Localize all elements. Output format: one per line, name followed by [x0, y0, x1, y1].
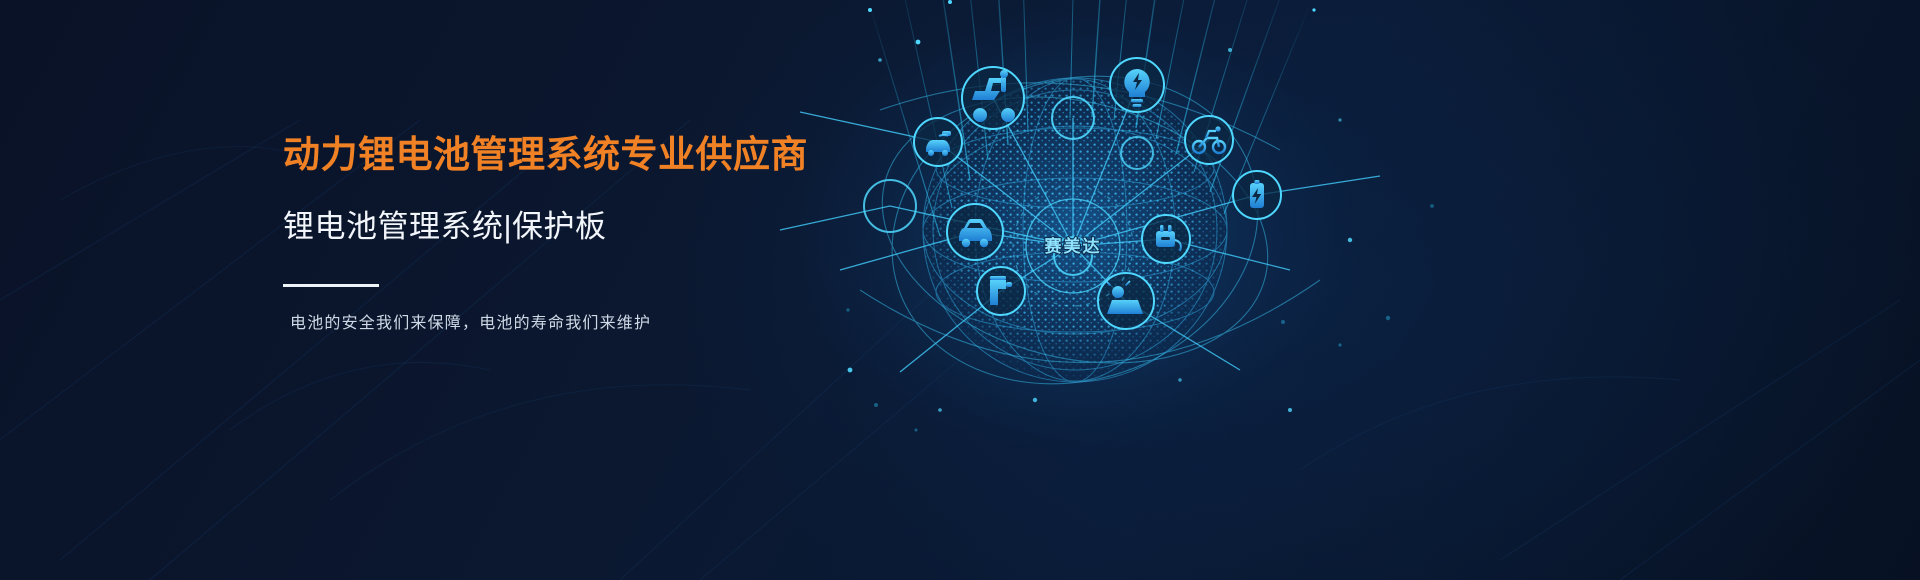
- power-plug-node: [1142, 215, 1190, 263]
- car-node: [947, 204, 1003, 260]
- network-globe-graphic: 赛美达: [820, 0, 1520, 580]
- car-charging-node: [914, 118, 962, 166]
- hero-headline: 动力锂电池管理系统专业供应商: [283, 132, 903, 178]
- battery-node: [1233, 171, 1281, 219]
- globe-brand-label: 赛美达: [1044, 236, 1102, 256]
- hero-subheadline: 锂电池管理系统|保护板: [283, 201, 903, 246]
- motorbike-node: [1185, 116, 1233, 164]
- hero-tagline: 电池的安全我们来保障，电池的寿命我们来维护: [290, 309, 903, 333]
- hero-text-block: 动力锂电池管理系统专业供应商 锂电池管理系统|保护板 电池的安全我们来保障，电池…: [283, 132, 903, 333]
- lightbulb-node: [1110, 58, 1164, 112]
- battery-icon: [1250, 180, 1264, 208]
- drill-node: [977, 267, 1025, 315]
- hero-banner: 赛美达 动力锂电池管理系统专业供应商 锂电池管理系统|保护板 电池的安全我们来保…: [0, 0, 1920, 580]
- scooter-node: [962, 67, 1024, 129]
- hero-divider: [283, 284, 379, 287]
- solar-panel-node: [1098, 273, 1154, 329]
